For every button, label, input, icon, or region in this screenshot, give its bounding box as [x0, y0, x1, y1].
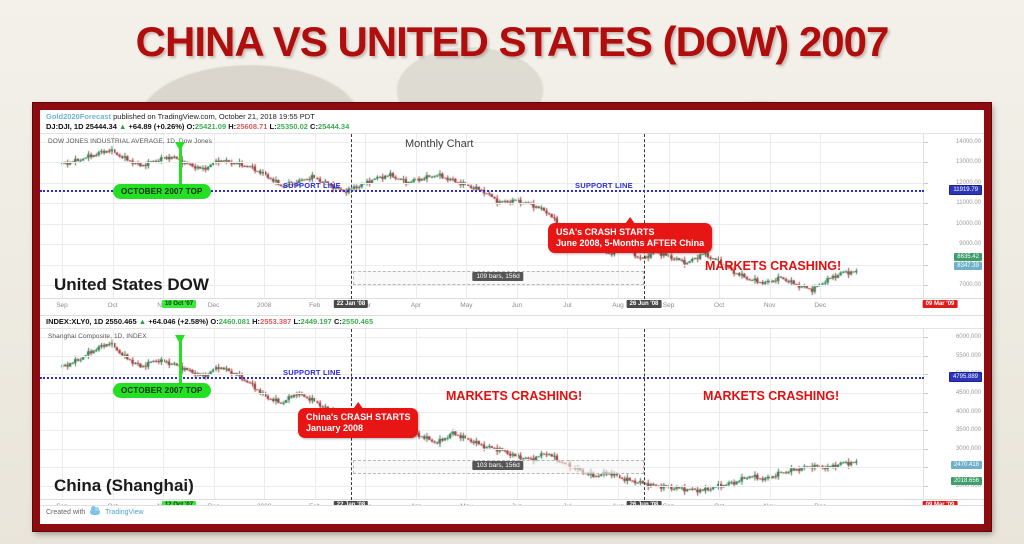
- shanghai-open-label: O:: [210, 317, 218, 326]
- dow-quote-line: DJ:DJI, 1D 25444.34 ▲ +64.89 (+0.26%) O:…: [40, 121, 984, 133]
- dow-callout-line1: USA's CRASH STARTS: [556, 227, 704, 238]
- shanghai-low: 2449.197: [301, 317, 332, 326]
- time-tick: Dec: [814, 302, 826, 309]
- price-tick: 3500.000: [956, 427, 981, 433]
- price-tick-dash: [924, 374, 928, 375]
- grid-line-v: [517, 329, 518, 500]
- price-tick-dash: [924, 183, 928, 184]
- page-title: CHINA VS UNITED STATES (DOW) 2007: [0, 18, 1024, 66]
- price-tick: 14000.00: [956, 139, 981, 145]
- grid-line-h: [40, 244, 924, 245]
- grid-line-h: [40, 412, 924, 413]
- grid-line-v: [618, 329, 619, 500]
- shanghai-callout-line2: January 2008: [306, 423, 410, 434]
- grid-line-v: [113, 329, 114, 500]
- grid-line-h: [40, 356, 924, 357]
- shanghai-markets-crashing-text-1: MARKETS CRASHING!: [446, 389, 582, 403]
- grid-line-h: [40, 162, 924, 163]
- up-triangle-icon: ▲: [139, 317, 146, 326]
- dow-callout-line2: June 2008, 5-Months AFTER China: [556, 238, 704, 249]
- shanghai-close-label: C:: [334, 317, 342, 326]
- time-tick: Jun: [512, 302, 522, 309]
- price-tick: 3000.000: [956, 446, 981, 452]
- price-tick: 4500.000: [956, 390, 981, 396]
- price-tick-dash: [924, 203, 928, 204]
- price-tick: 4000.000: [956, 409, 981, 415]
- dow-high: 25608.71: [236, 122, 267, 131]
- dow-measure-label: 109 bars, 156d: [472, 272, 523, 281]
- grid-line-v: [820, 134, 821, 299]
- dow-close-label: C:: [310, 122, 318, 131]
- grid-line-h: [40, 449, 924, 450]
- shanghai-callout-line1: China's CRASH STARTS: [306, 412, 410, 423]
- shanghai-high: 2553.387: [260, 317, 291, 326]
- shanghai-open: 2460.081: [219, 317, 250, 326]
- time-tick: Sep: [663, 302, 675, 309]
- time-badge: 26 Jun '08: [627, 300, 662, 308]
- dow-support-label-left: SUPPORT LINE: [283, 181, 341, 190]
- shanghai-big-label: China (Shanghai): [54, 476, 194, 496]
- time-tick: Sep: [56, 302, 68, 309]
- grid-line-h: [40, 430, 924, 431]
- price-tick-dash: [924, 393, 928, 394]
- time-tick: Nov: [764, 302, 776, 309]
- grid-line-v: [770, 134, 771, 299]
- shanghai-high-label: H:: [252, 317, 260, 326]
- shanghai-top-marker-stem: [179, 339, 182, 383]
- grid-line-v: [214, 329, 215, 500]
- price-tick-dash: [924, 265, 928, 266]
- grid-line-v: [719, 329, 720, 500]
- dow-vline-jan08: [351, 134, 352, 299]
- dow-change: +64.89 (+0.26%): [129, 122, 185, 131]
- shanghai-legend: Shanghai Composite, 1D, INDEX: [48, 333, 147, 340]
- time-tick: Feb: [309, 302, 320, 309]
- dow-last: 25444.34: [86, 122, 117, 131]
- dow-close: 25444.34: [318, 122, 349, 131]
- shanghai-vline-jun08: [644, 329, 645, 500]
- grid-line-v: [669, 329, 670, 500]
- shanghai-close: 2550.465: [342, 317, 373, 326]
- time-tick: 2008: [257, 302, 271, 309]
- price-tick-dash: [924, 337, 928, 338]
- dow-low-label: L:: [270, 122, 277, 131]
- shanghai-top-marker-arrow: [175, 335, 185, 344]
- price-tick-dash: [924, 356, 928, 357]
- shanghai-low-label: L:: [293, 317, 300, 326]
- time-tick: Aug: [612, 302, 624, 309]
- dow-crash-callout[interactable]: USA's CRASH STARTS June 2008, 5-Months A…: [548, 223, 712, 253]
- price-tick-dash: [924, 412, 928, 413]
- time-badge: 10 Oct '07: [162, 300, 196, 308]
- shanghai-price-axis[interactable]: 6000.0005500.0005000.0004500.0004000.000…: [923, 329, 984, 500]
- shanghai-support-line: [40, 377, 924, 379]
- price-tick: 13000.00: [956, 159, 981, 165]
- time-tick: Apr: [411, 302, 421, 309]
- grid-line-v: [214, 134, 215, 299]
- up-triangle-icon: ▲: [119, 122, 126, 131]
- price-tick-dash: [924, 142, 928, 143]
- price-badge: 2470.418: [951, 461, 982, 469]
- dow-plot-area[interactable]: DOW JONES INDUSTRIAL AVERAGE, 1D, Dow Jo…: [40, 134, 924, 299]
- cloud-icon: [90, 509, 100, 515]
- time-badge: 09 Mar '09: [923, 300, 958, 308]
- chart-inner: Gold2020Forecast published on TradingVie…: [40, 110, 984, 524]
- price-tick-dash: [924, 162, 928, 163]
- time-tick: Jul: [563, 302, 571, 309]
- dow-time-axis[interactable]: SepOctNovDec2008FebMarAprMayJunJulAugSep…: [40, 298, 984, 315]
- price-tick-dash: [924, 285, 928, 286]
- dow-october-top-label[interactable]: OCTOBER 2007 TOP: [113, 184, 211, 199]
- dow-high-label: H:: [228, 122, 236, 131]
- price-tick-dash: [924, 224, 928, 225]
- dow-vline-jun08: [644, 134, 645, 299]
- grid-line-v: [567, 329, 568, 500]
- shanghai-chart-pane[interactable]: Shanghai Composite, 1D, INDEX SUPPORT LI…: [40, 328, 984, 516]
- price-tick: 6000.000: [956, 334, 981, 340]
- price-tick-dash: [924, 449, 928, 450]
- time-badge: 22 Jan '08: [334, 300, 368, 308]
- grid-line-v: [820, 329, 821, 500]
- dow-symbol[interactable]: DJ:DJI, 1D: [46, 122, 84, 131]
- shanghai-support-label-left: SUPPORT LINE: [283, 368, 341, 377]
- created-with-label: Created with: [46, 509, 85, 516]
- shanghai-change: +64.046 (+2.58%): [148, 317, 208, 326]
- price-badge: 2018.656: [951, 477, 982, 485]
- grid-line-h: [40, 224, 924, 225]
- dow-low: 25350.02: [277, 122, 308, 131]
- dow-support-label-right: SUPPORT LINE: [575, 181, 633, 190]
- dow-big-label: United States DOW: [54, 275, 209, 295]
- price-tick-dash: [924, 430, 928, 431]
- tradingview-brand[interactable]: TradingView: [105, 509, 144, 516]
- shanghai-plot-area[interactable]: Shanghai Composite, 1D, INDEX SUPPORT LI…: [40, 329, 924, 500]
- grid-line-v: [770, 329, 771, 500]
- grid-line-h: [40, 374, 924, 375]
- price-tick: 10000.00: [956, 221, 981, 227]
- shanghai-markets-crashing-text-2: MARKETS CRASHING!: [703, 389, 839, 403]
- grid-line-h: [40, 203, 924, 204]
- grid-line-v: [264, 134, 265, 299]
- shanghai-october-top-label[interactable]: OCTOBER 2007 TOP: [113, 383, 211, 398]
- monthly-chart-note: Monthly Chart: [405, 138, 473, 150]
- dow-price-axis[interactable]: 14000.0013000.0012000.0011000.0010000.00…: [923, 134, 984, 299]
- price-tick: 9000.00: [959, 241, 981, 247]
- grid-line-v: [669, 134, 670, 299]
- price-tick-dash: [924, 486, 928, 487]
- price-badge: 11919.79: [949, 185, 982, 195]
- dow-open: 25421.09: [195, 122, 226, 131]
- price-badge: 8635.42: [954, 253, 982, 261]
- grid-line-v: [264, 329, 265, 500]
- chart-footer: Created with TradingView: [40, 505, 984, 524]
- attribution-line: Gold2020Forecast published on TradingVie…: [40, 110, 984, 121]
- dow-open-label: O:: [187, 122, 195, 131]
- shanghai-quote-line: INDEX:XLY0, 1D 2550.465 ▲ +64.046 (+2.58…: [40, 315, 984, 328]
- chart-frame: Gold2020Forecast published on TradingVie…: [33, 103, 991, 531]
- dow-top-marker-arrow: [175, 142, 185, 151]
- price-tick: 11000.00: [956, 200, 981, 206]
- time-tick: Oct: [714, 302, 724, 309]
- grid-line-v: [719, 134, 720, 299]
- price-tick: 5500.000: [956, 353, 981, 359]
- dow-markets-crashing-text: MARKETS CRASHING!: [705, 259, 841, 273]
- author-name: Gold2020Forecast: [46, 112, 111, 121]
- price-badge: 4795.889: [949, 372, 982, 382]
- grid-line-v: [466, 329, 467, 500]
- grid-line-v: [163, 329, 164, 500]
- attribution-text: published on TradingView.com, October 21…: [113, 112, 315, 121]
- dow-chart-pane[interactable]: DOW JONES INDUSTRIAL AVERAGE, 1D, Dow Jo…: [40, 133, 984, 315]
- dow-legend: DOW JONES INDUSTRIAL AVERAGE, 1D, Dow Jo…: [48, 138, 212, 145]
- price-tick-dash: [924, 467, 928, 468]
- time-tick: Oct: [107, 302, 117, 309]
- grid-line-h: [40, 337, 924, 338]
- shanghai-symbol[interactable]: INDEX:XLY0, 1D: [46, 317, 103, 326]
- time-tick: May: [460, 302, 472, 309]
- price-tick: 7000.00: [959, 282, 981, 288]
- grid-line-v: [315, 134, 316, 299]
- shanghai-measure-label: 103 bars, 156d: [472, 461, 523, 470]
- price-badge: 8347.39: [954, 262, 982, 270]
- shanghai-last: 2550.465: [105, 317, 136, 326]
- grid-line-v: [62, 329, 63, 500]
- price-tick-dash: [924, 244, 928, 245]
- shanghai-crash-callout[interactable]: China's CRASH STARTS January 2008: [298, 408, 418, 438]
- time-tick: Dec: [208, 302, 220, 309]
